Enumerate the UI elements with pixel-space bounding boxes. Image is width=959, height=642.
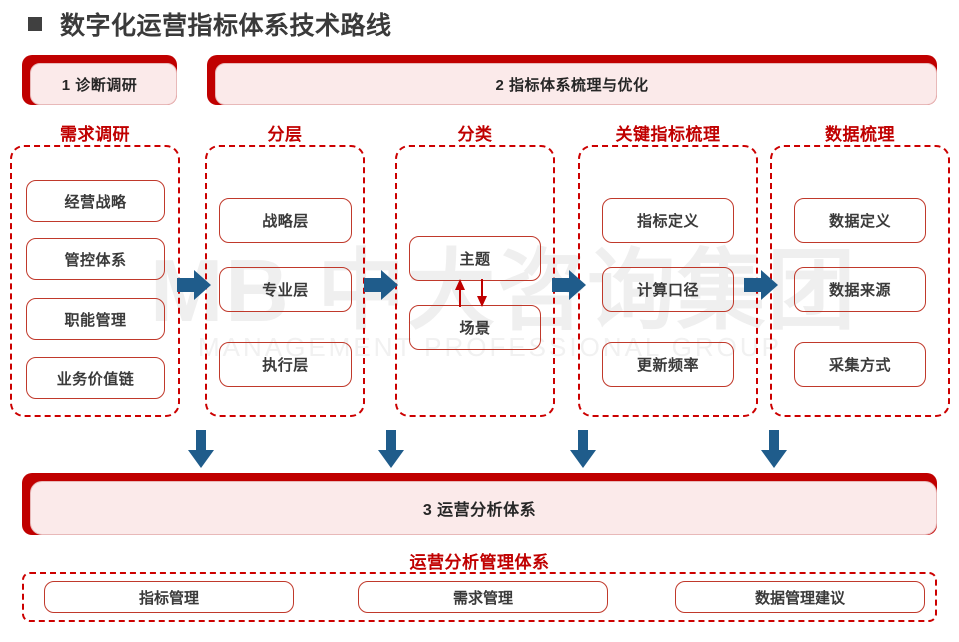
pill-item[interactable]: 经营战略 xyxy=(26,180,165,222)
slide-canvas: MB 中大咨询集团 MANAGEMENT PROFESSIONAL GROUP … xyxy=(0,0,959,642)
arrow-down-icon xyxy=(188,430,214,468)
column-header-classification: 分类 xyxy=(395,120,555,145)
stage-banner-1[interactable]: 1 诊断调研 xyxy=(22,55,177,105)
pill-label: 主题 xyxy=(459,248,490,269)
stage-banner-1-label: 1 诊断调研 xyxy=(62,74,138,95)
pill-item[interactable]: 计算口径 xyxy=(602,267,734,312)
pill-label: 职能管理 xyxy=(64,309,126,330)
pill-item[interactable]: 场景 xyxy=(409,305,541,350)
pill-item[interactable]: 执行层 xyxy=(219,342,352,387)
column-header-data: 数据梳理 xyxy=(770,120,950,145)
bottom-pill-item[interactable]: 指标管理 xyxy=(44,581,294,613)
pill-label: 更新频率 xyxy=(637,354,699,375)
pill-item[interactable]: 业务价值链 xyxy=(26,357,165,399)
pill-item[interactable]: 战略层 xyxy=(219,198,352,243)
pill-item[interactable]: 指标定义 xyxy=(602,198,734,243)
pill-label: 管控体系 xyxy=(64,249,126,270)
arrow-down-icon xyxy=(761,430,787,468)
pill-item[interactable]: 采集方式 xyxy=(794,342,926,387)
pill-item[interactable]: 更新频率 xyxy=(602,342,734,387)
pill-label: 战略层 xyxy=(262,210,309,231)
stage-banner-2[interactable]: 2 指标体系梳理与优化 xyxy=(207,55,937,105)
arrow-right-icon xyxy=(744,268,778,302)
pill-label: 执行层 xyxy=(262,354,309,375)
bottom-pill-label: 指标管理 xyxy=(139,587,199,608)
bottom-pill-item[interactable]: 需求管理 xyxy=(358,581,608,613)
pill-label: 指标定义 xyxy=(637,210,699,231)
pill-label: 计算口径 xyxy=(637,279,699,300)
column-header-layering: 分层 xyxy=(205,120,365,145)
pill-label: 数据定义 xyxy=(829,210,891,231)
stage-banner-3-label: 3 运营分析体系 xyxy=(423,496,536,520)
pill-label: 业务价值链 xyxy=(57,368,135,389)
page-title-text: 数字化运营指标体系技术路线 xyxy=(60,6,392,42)
pill-label: 经营战略 xyxy=(64,191,126,212)
pill-item[interactable]: 数据定义 xyxy=(794,198,926,243)
bottom-section-label: 运营分析管理体系 xyxy=(0,548,959,573)
pill-item[interactable]: 主题 xyxy=(409,236,541,281)
arrow-right-icon xyxy=(364,268,398,302)
pill-label: 数据来源 xyxy=(829,279,891,300)
banner-face: 2 指标体系梳理与优化 xyxy=(215,63,937,105)
column-header-requirement: 需求调研 xyxy=(10,120,180,145)
arrow-right-icon xyxy=(177,268,211,302)
bottom-pill-item[interactable]: 数据管理建议 xyxy=(675,581,925,613)
pill-label: 专业层 xyxy=(262,279,309,300)
pill-item[interactable]: 数据来源 xyxy=(794,267,926,312)
page-title: 数字化运营指标体系技术路线 xyxy=(28,6,392,42)
bidirectional-arrows-icon xyxy=(452,279,502,307)
pill-label: 采集方式 xyxy=(829,354,891,375)
pill-item[interactable]: 职能管理 xyxy=(26,298,165,340)
column-header-key-indicators: 关键指标梳理 xyxy=(578,120,758,145)
pill-label: 场景 xyxy=(459,317,490,338)
banner-face: 3 运营分析体系 xyxy=(30,481,937,535)
arrow-right-icon xyxy=(552,268,586,302)
bottom-pill-label: 需求管理 xyxy=(453,587,513,608)
arrow-down-icon xyxy=(570,430,596,468)
bottom-pill-label: 数据管理建议 xyxy=(755,587,845,608)
stage-banner-3[interactable]: 3 运营分析体系 xyxy=(22,473,937,535)
pill-item[interactable]: 管控体系 xyxy=(26,238,165,280)
banner-face: 1 诊断调研 xyxy=(30,63,177,105)
square-bullet-icon xyxy=(28,17,42,31)
pill-item[interactable]: 专业层 xyxy=(219,267,352,312)
arrow-down-icon xyxy=(378,430,404,468)
stage-banner-2-label: 2 指标体系梳理与优化 xyxy=(495,74,648,95)
